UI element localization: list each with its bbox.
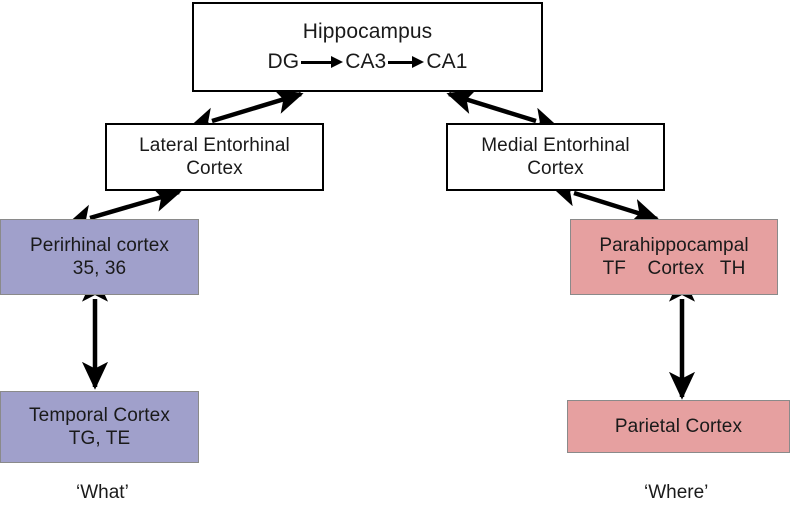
parietal-line1: Parietal Cortex <box>615 415 742 438</box>
node-perirhinal-cortex[interactable]: Perirhinal cortex 35, 36 <box>0 219 199 295</box>
edge-hippocampus-medial-entorhinal <box>449 94 536 121</box>
medial-entorhinal-line1: Medial Entorhinal <box>481 134 630 157</box>
lateral-entorhinal-line1: Lateral Entorhinal <box>139 134 290 157</box>
perirhinal-line2: 35, 36 <box>73 257 126 280</box>
hippocampus-subregion-chain: DG CA3 CA1 <box>267 49 467 75</box>
node-lateral-entorhinal-cortex[interactable]: Lateral Entorhinal Cortex <box>105 123 324 191</box>
caption-what-stream: ‘What’ <box>76 482 129 504</box>
node-parietal-cortex[interactable]: Parietal Cortex <box>567 400 790 453</box>
temporal-line2: TG, TE <box>69 427 130 450</box>
subregion-ca3: CA3 <box>345 49 386 75</box>
arrow-dg-to-ca3-icon <box>299 52 345 72</box>
hippocampus-title: Hippocampus <box>303 19 433 45</box>
node-temporal-cortex[interactable]: Temporal Cortex TG, TE <box>0 391 199 463</box>
arrow-ca3-to-ca1-icon <box>386 52 426 72</box>
temporal-line1: Temporal Cortex <box>29 404 170 427</box>
edge-lateral-entorhinal-perirhinal <box>90 192 179 218</box>
edge-hippocampus-lateral-entorhinal <box>212 94 301 121</box>
medial-entorhinal-line2: Cortex <box>527 157 584 180</box>
parahippocampal-line1: Parahippocampal <box>599 234 748 257</box>
caption-where-stream: ‘Where’ <box>644 482 708 504</box>
edge-medial-entorhinal-parahippocampal <box>574 193 657 219</box>
perirhinal-line1: Perirhinal cortex <box>30 234 169 257</box>
diagram-canvas: Hippocampus DG CA3 CA1 Lateral Entorhina… <box>0 0 799 516</box>
node-hippocampus[interactable]: Hippocampus DG CA3 CA1 <box>192 2 543 92</box>
node-medial-entorhinal-cortex[interactable]: Medial Entorhinal Cortex <box>446 123 665 191</box>
parahippocampal-line2: TF Cortex TH <box>603 257 746 280</box>
subregion-ca1: CA1 <box>426 49 467 75</box>
subregion-dg: DG <box>267 49 299 75</box>
lateral-entorhinal-line2: Cortex <box>186 157 243 180</box>
node-parahippocampal-cortex[interactable]: Parahippocampal TF Cortex TH <box>570 219 778 295</box>
